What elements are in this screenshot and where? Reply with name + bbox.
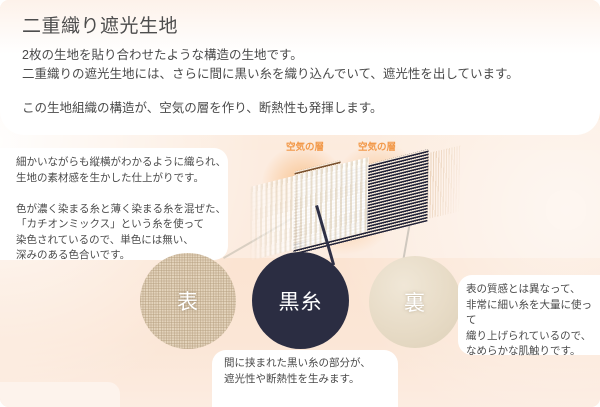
air-layer-label-right: 空気の層 xyxy=(358,142,396,154)
circle-ura: 裏 xyxy=(369,256,461,348)
infographic-canvas: 二重織り遮光生地 2枚の生地を貼り合わせたような構造の生地です。 二重織りの遮光… xyxy=(0,0,600,407)
circle-ura-label: 裏 xyxy=(404,287,426,317)
page-title: 二重織り遮光生地 xyxy=(22,14,178,40)
header-line-2: 二重織りの遮光生地には、さらに間に黒い糸を織り込んでいて、遮光性を出しています。 xyxy=(22,65,519,84)
circle-omote: 表 xyxy=(140,253,236,349)
header-line-3: この生地組織の構造が、空気の層を作り、断熱性も発揮します。 xyxy=(22,99,383,118)
bottom-description-text: 間に挟まれた黒い糸の部分が、 遮光性や断熱性を生みます。 xyxy=(224,356,371,387)
header-line-1: 2枚の生地を貼り合わせたような構造の生地です。 xyxy=(22,46,303,65)
left-description-text: 細かいながらも縦横がわかるように織られ、 生地の素材感を生かした仕上がりです。 … xyxy=(16,155,226,264)
right-description-text: 表の質感とは異なって、 非常に細い糸を大量に使って 織り上げられているので、 な… xyxy=(466,282,600,360)
air-layer-label-left: 空気の層 xyxy=(286,142,324,154)
circle-kuroito: 黒糸 xyxy=(252,252,349,349)
bottom-left-corner-fill xyxy=(0,382,120,407)
circle-kuroito-label: 黒糸 xyxy=(279,286,323,316)
circle-omote-label: 表 xyxy=(177,286,199,316)
